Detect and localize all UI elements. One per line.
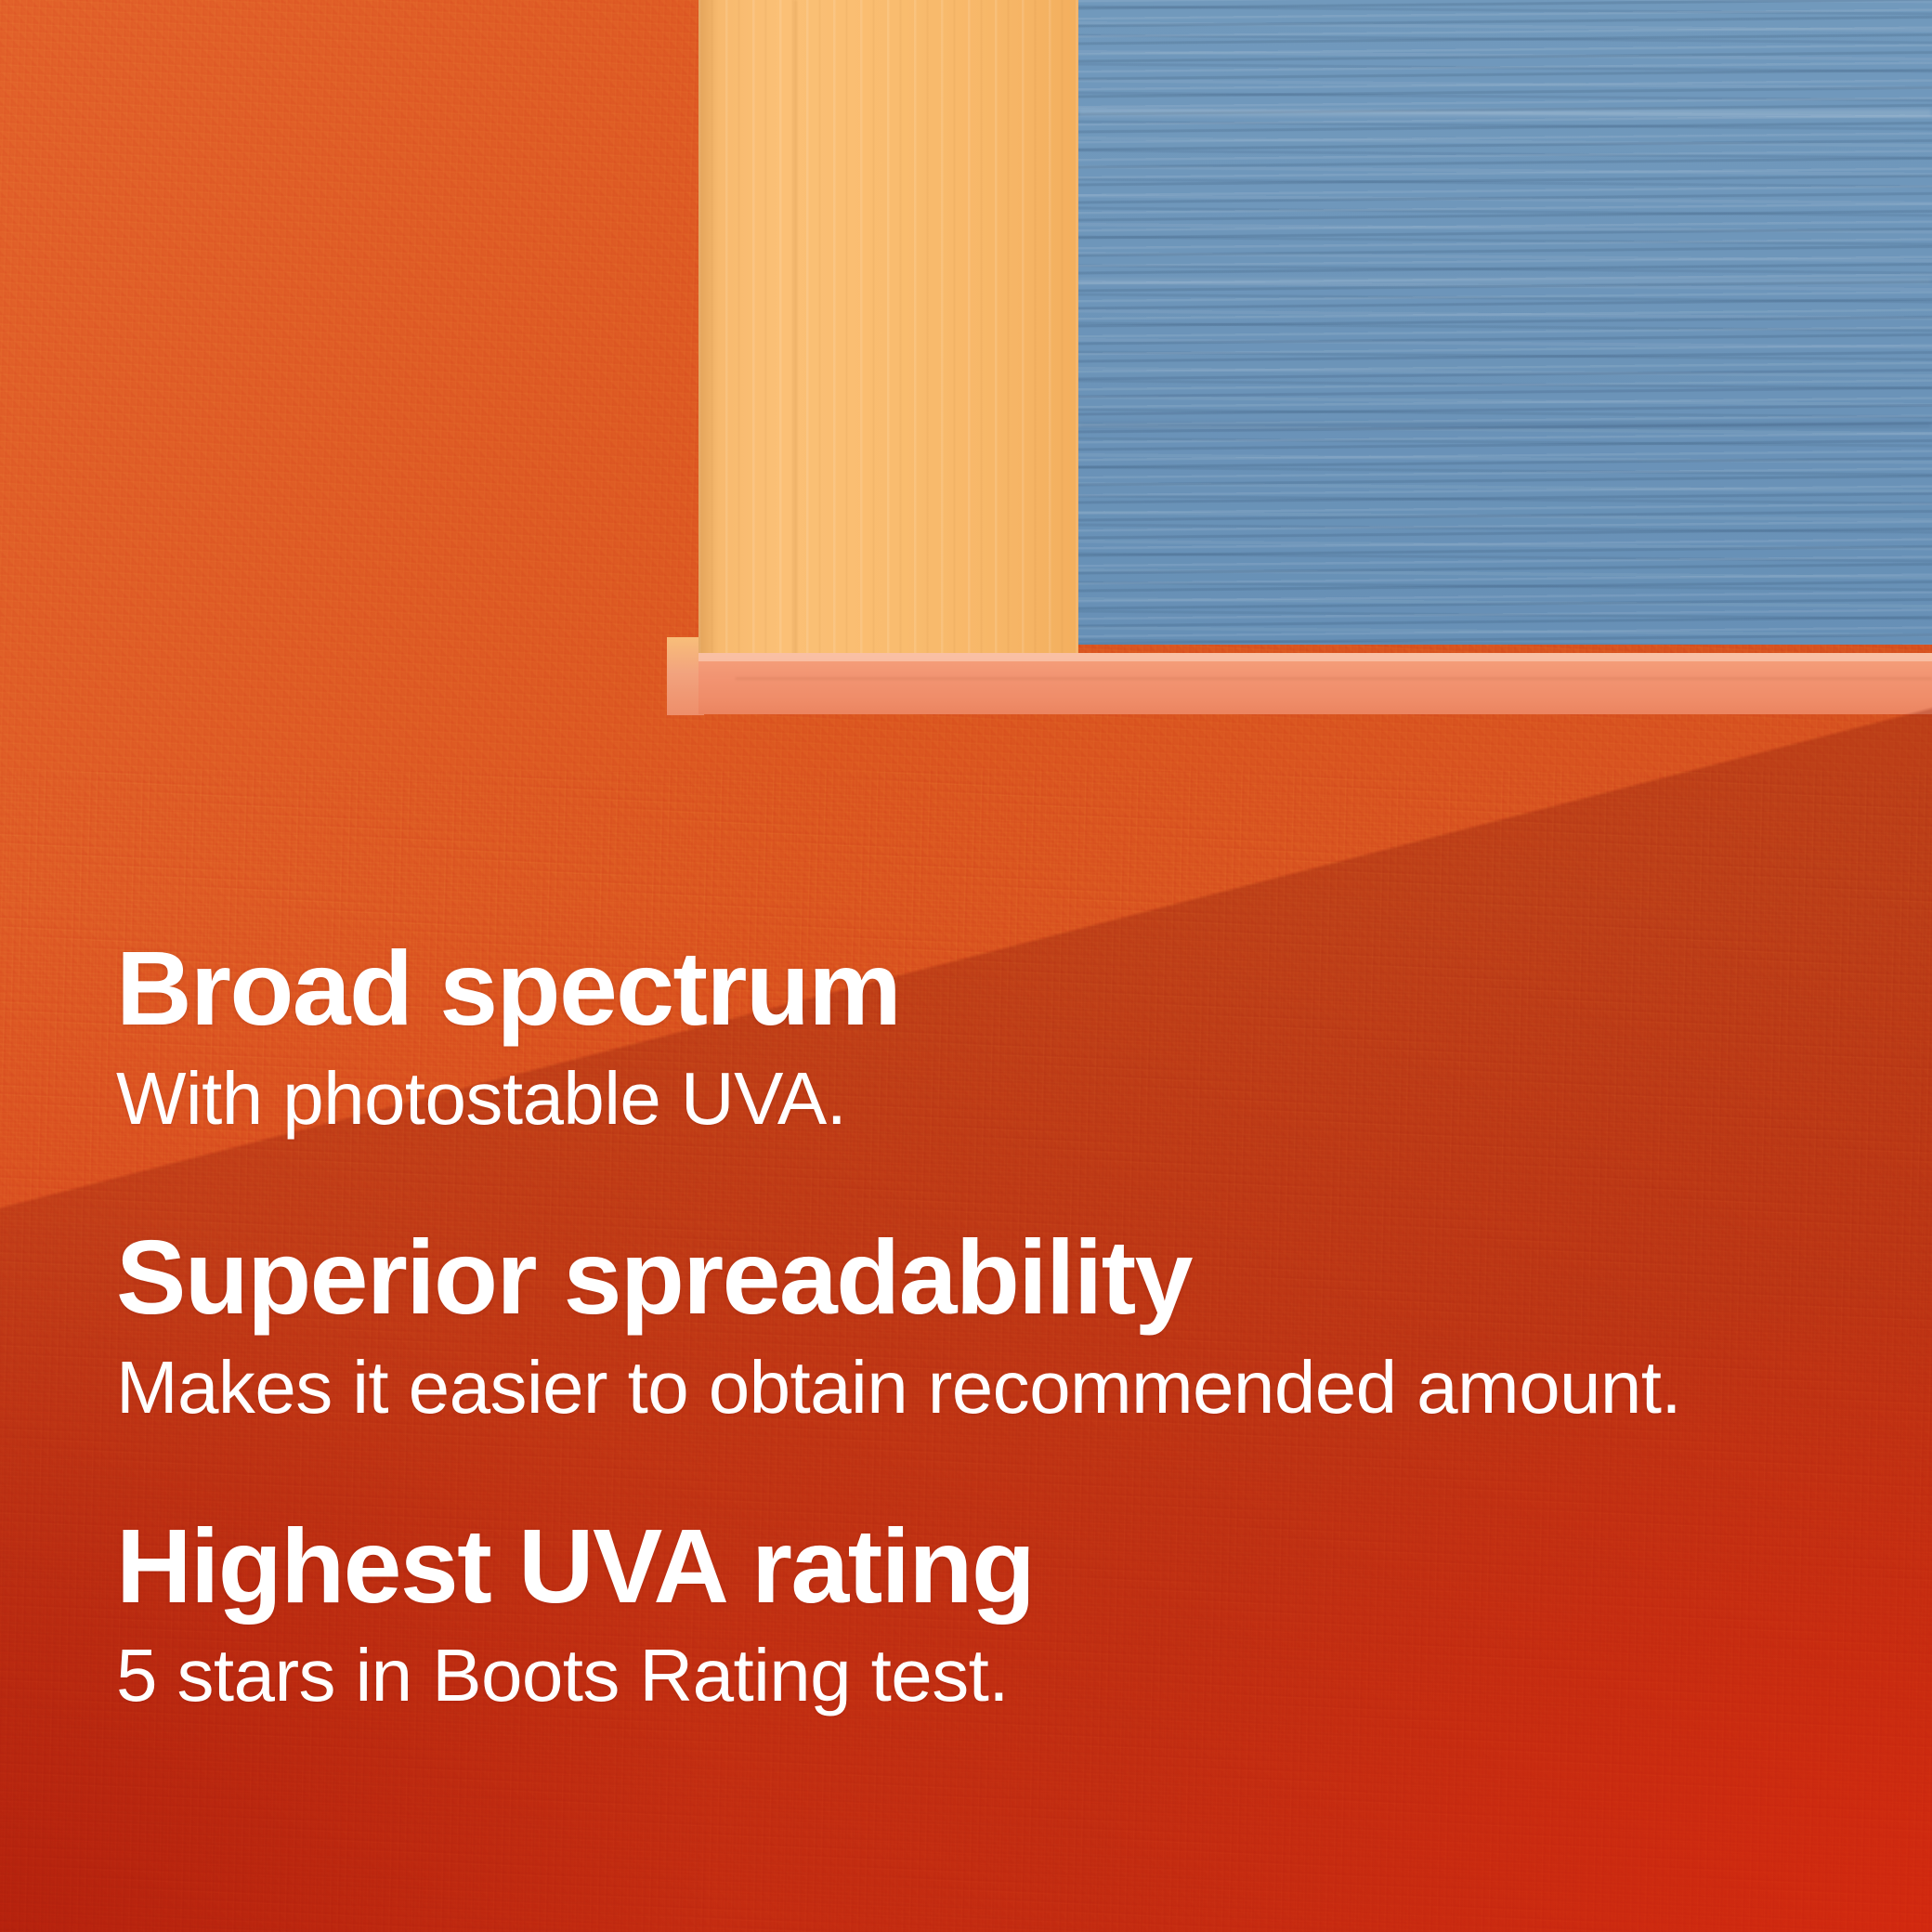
benefits-list: Broad spectrum With photostable UVA. Sup… (116, 929, 1807, 1720)
benefit-item: Highest UVA rating 5 stars in Boots Rati… (116, 1507, 1807, 1721)
product-benefits-panel: Broad spectrum With photostable UVA. Sup… (0, 0, 1932, 1932)
benefit-title: Highest UVA rating (116, 1507, 1807, 1626)
benefit-description: Makes it easier to obtain recommended am… (116, 1343, 1807, 1432)
benefit-item: Broad spectrum With photostable UVA. (116, 929, 1807, 1143)
benefit-item: Superior spreadability Makes it easier t… (116, 1218, 1807, 1432)
benefit-title: Superior spreadability (116, 1218, 1807, 1338)
benefit-description: 5 stars in Boots Rating test. (116, 1631, 1807, 1720)
benefit-description: With photostable UVA. (116, 1054, 1807, 1143)
benefit-title: Broad spectrum (116, 929, 1807, 1049)
